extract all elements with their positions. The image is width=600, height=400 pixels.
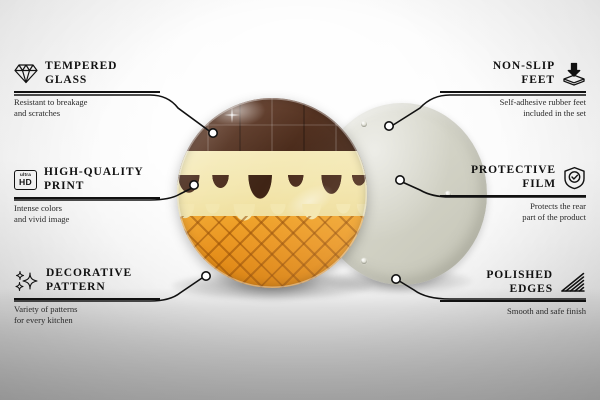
infographic-canvas: TEMPERED GLASS Resistant to breakage and… (0, 0, 600, 400)
feature-description: Self-adhesive rubber feet included in th… (440, 97, 586, 119)
press-down-pad-icon (562, 62, 586, 86)
feature-non-slip-feet[interactable]: NON-SLIP FEET Self-adhesive rubber feet … (440, 60, 586, 119)
divider (440, 195, 586, 197)
feature-tempered-glass[interactable]: TEMPERED GLASS Resistant to breakage and… (14, 60, 160, 119)
printed-glass-board (177, 98, 367, 288)
feature-header: ultra HD HIGH-QUALITY PRINT (14, 166, 160, 193)
sparkles-icon (14, 270, 39, 292)
divider (440, 300, 586, 302)
divider (440, 91, 586, 93)
divider (14, 91, 160, 93)
feature-description: Resistant to breakage and scratches (14, 97, 160, 119)
ultra-hd-icon: ultra HD (14, 170, 37, 190)
shield-check-icon (563, 166, 586, 190)
feature-header: DECORATIVE PATTERN (14, 267, 160, 294)
feature-description: Intense colors and vivid image (14, 203, 160, 225)
diamond-icon (14, 63, 38, 84)
feature-header: TEMPERED GLASS (14, 60, 160, 87)
divider (14, 298, 160, 300)
feature-title: NON-SLIP FEET (493, 60, 555, 87)
feature-header: POLISHED EDGES (440, 269, 586, 296)
feature-title: PROTECTIVE FILM (471, 164, 556, 191)
feature-header: NON-SLIP FEET (440, 60, 586, 87)
feature-title: DECORATIVE PATTERN (46, 267, 132, 294)
feature-title: POLISHED EDGES (486, 269, 553, 296)
feature-polished-edges[interactable]: POLISHED EDGES Smooth and safe finish (440, 269, 586, 317)
feature-description: Smooth and safe finish (440, 306, 586, 317)
glass-edge (177, 98, 367, 288)
feature-title: HIGH-QUALITY PRINT (44, 166, 144, 193)
feature-decorative-pattern[interactable]: DECORATIVE PATTERN Variety of patterns f… (14, 267, 160, 326)
feature-protective-film[interactable]: PROTECTIVE FILM Protects the rear part o… (440, 164, 586, 223)
feature-header: PROTECTIVE FILM (440, 164, 586, 191)
feature-description: Variety of patterns for every kitchen (14, 304, 160, 326)
feature-high-quality-print[interactable]: ultra HD HIGH-QUALITY PRINT Intense colo… (14, 166, 160, 225)
feature-title: TEMPERED GLASS (45, 60, 117, 87)
hatched-triangle-icon (560, 272, 586, 293)
feature-description: Protects the rear part of the product (440, 201, 586, 223)
divider (14, 197, 160, 199)
